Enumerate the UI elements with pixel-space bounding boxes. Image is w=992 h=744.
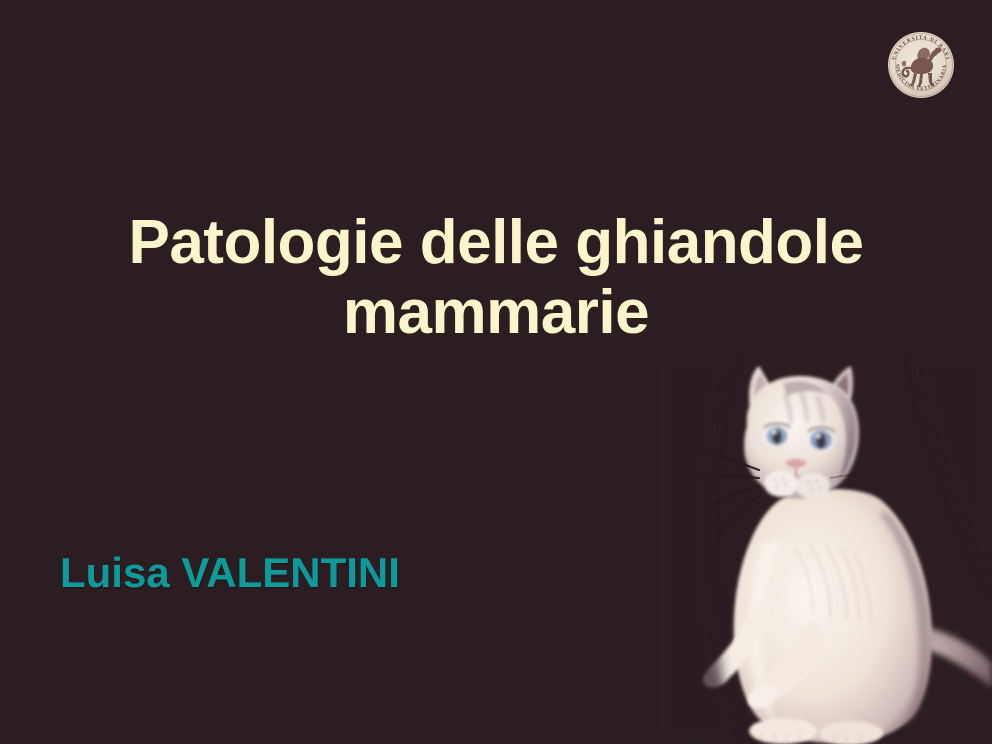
slide-title-line1: Patologie delle ghiandole xyxy=(0,208,992,278)
university-seal-logo: UNIVERSITA DI BARI MEDICINA VETERINARIA xyxy=(884,28,958,102)
slide-author-name: Luisa VALENTINI xyxy=(60,549,400,597)
standing-cat-image xyxy=(655,352,992,744)
cat-illustration xyxy=(655,352,992,744)
seal-icon: UNIVERSITA DI BARI MEDICINA VETERINARIA xyxy=(884,28,958,102)
slide-canvas: UNIVERSITA DI BARI MEDICINA VETERINARIA xyxy=(0,0,992,744)
slide-title: Patologie delle ghiandole mammarie xyxy=(0,208,992,348)
slide-title-line2: mammarie xyxy=(0,278,992,348)
